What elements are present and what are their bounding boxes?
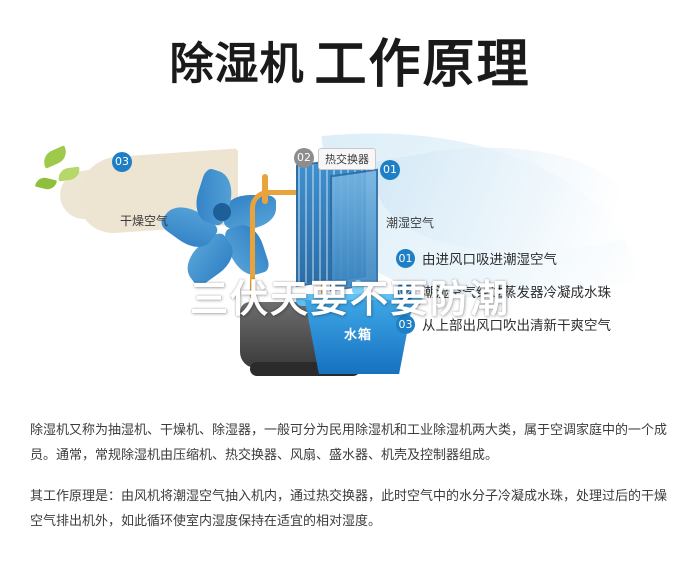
badge-01: 01 [380,160,400,180]
water-tank-label: 水箱 [330,324,386,343]
step-number: 02 [396,282,415,301]
step-number: 01 [396,249,415,268]
list-item: 03 从上部出风口吹出清新干爽空气 [396,314,696,334]
page-title-part1: 除湿机 [169,39,304,90]
step-text: 从上部出风口吹出清新干爽空气 [422,314,611,334]
list-item: 02 潮湿空气经过蒸发器冷凝成水珠 [396,281,696,301]
humid-air-label: 潮湿空气 [386,214,434,231]
coil-pipe-shape [262,174,268,204]
description-paragraph-1: 除湿机又称为抽湿机、干燥机、除湿器，一般可分为民用除湿机和工业除湿机两大类，属于… [30,418,670,468]
page-title: 除湿机工作原理 [0,22,700,97]
poster-root: 除湿机工作原理 [0,0,700,566]
heat-exchanger-block-secondary [330,169,378,292]
list-item: 01 由进风口吸进潮湿空气 [396,248,696,268]
badge-03: 03 [112,152,132,172]
step-number: 03 [396,315,415,334]
steps-list: 01 由进风口吸进潮湿空气 02 潮湿空气经过蒸发器冷凝成水珠 03 从上部出风… [396,248,696,347]
badge-02: 02 [294,148,314,168]
leaf-icon [40,145,69,168]
page-title-part2: 工作原理 [314,35,530,95]
description-paragraph-2: 其工作原理是：由风机将潮湿空气抽入机内，通过热交换器，此时空气中的水分子冷凝成水… [30,484,670,534]
step-text: 潮湿空气经过蒸发器冷凝成水珠 [422,281,611,301]
heat-exchanger-label: 热交换器 [318,148,376,170]
step-text: 由进风口吸进潮湿空气 [422,248,557,268]
dry-air-label: 干燥空气 [120,212,168,229]
description-text: 除湿机又称为抽湿机、干燥机、除湿器，一般可分为民用除湿机和工业除湿机两大类，属于… [30,418,670,550]
leaf-icon [35,176,57,192]
